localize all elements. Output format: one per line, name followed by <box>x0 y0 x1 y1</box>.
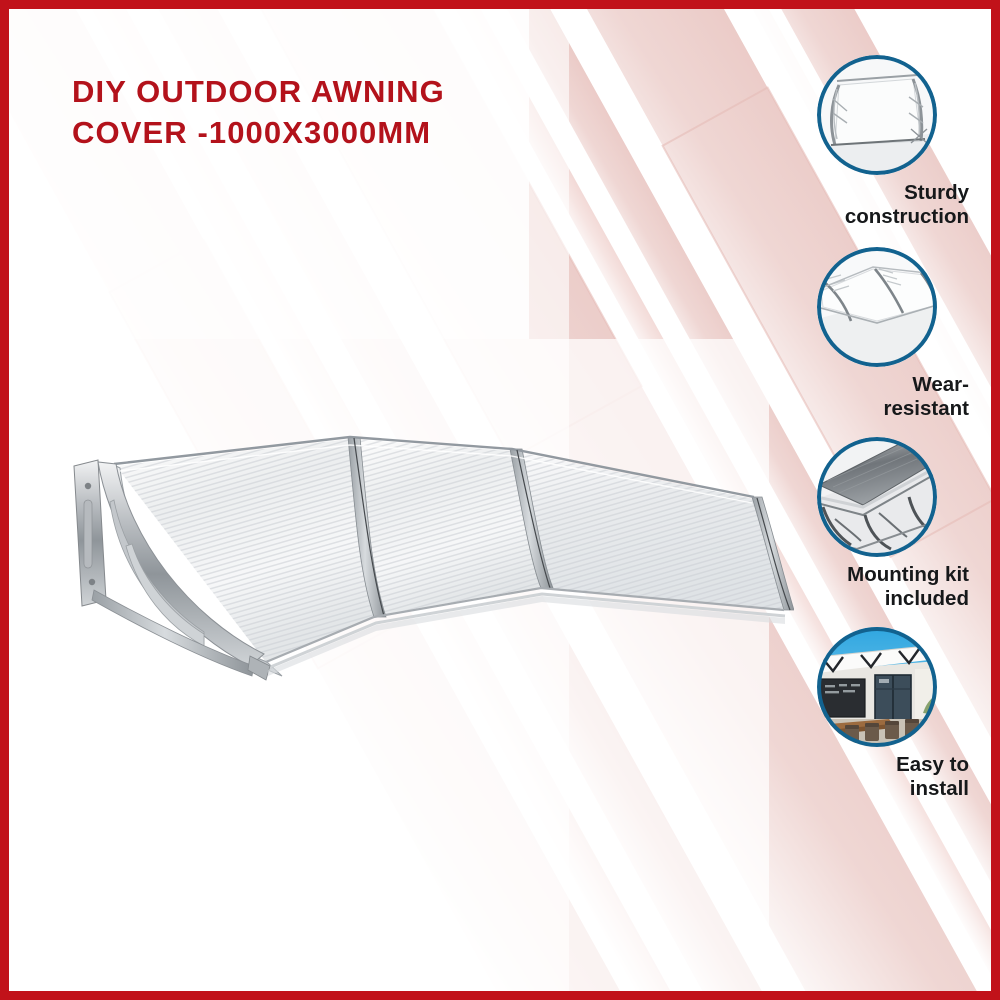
product-title-line-1: DIY OUTDOOR AWNING <box>72 71 632 112</box>
feature-list: Sturdy construction <box>779 55 975 812</box>
feature-item-wear-resistant: Wear- resistant <box>779 247 975 421</box>
feature-label-line-2: install <box>779 777 969 801</box>
cafe-patio-graphic <box>817 627 937 747</box>
product-title-line-2: COVER -1000X3000MM <box>72 112 632 153</box>
feature-label-line-2: resistant <box>779 397 969 421</box>
awning-underside-graphic <box>817 437 937 557</box>
awning-illustration <box>54 404 794 734</box>
feature-label-line-2: included <box>779 587 969 611</box>
cafe-patio-awning-icon <box>817 627 937 747</box>
awning-top-view-icon <box>817 247 937 367</box>
awning-front-view-icon <box>817 55 937 175</box>
hero-product-image <box>54 404 794 734</box>
feature-label-line-2: construction <box>779 205 969 229</box>
awning-underside-bracket-icon <box>817 437 937 557</box>
feature-item-easy-to-install: Easy to install <box>779 627 975 801</box>
product-title: DIY OUTDOOR AWNING COVER -1000X3000MM <box>72 71 632 153</box>
feature-label-line-1: Easy to <box>779 753 969 777</box>
product-listing-banner: DIY OUTDOOR AWNING COVER -1000X3000MM <box>0 0 1000 1000</box>
feature-label-line-1: Sturdy <box>779 181 969 205</box>
feature-label-line-1: Mounting kit <box>779 563 969 587</box>
feature-label-line-1: Wear- <box>779 373 969 397</box>
feature-item-sturdy-construction: Sturdy construction <box>779 55 975 229</box>
feature-label-sturdy-construction: Sturdy construction <box>779 181 975 229</box>
feature-item-mounting-kit: Mounting kit included <box>779 437 975 611</box>
awning-top-view-graphic <box>817 247 937 367</box>
feature-label-mounting-kit: Mounting kit included <box>779 563 975 611</box>
awning-front-view-graphic <box>817 55 937 175</box>
feature-label-wear-resistant: Wear- resistant <box>779 373 975 421</box>
feature-label-easy-to-install: Easy to install <box>779 753 975 801</box>
